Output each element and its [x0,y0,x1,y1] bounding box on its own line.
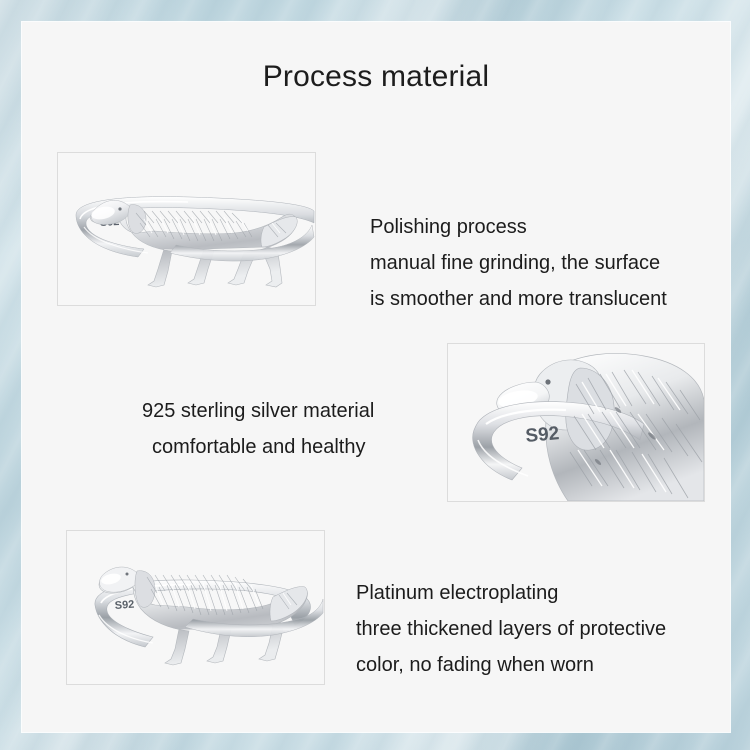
infographic-page: Process material [0,0,750,750]
page-title: Process material [22,60,730,94]
feature-line: Polishing process [370,209,667,245]
feature-text-material: 925 sterling silver material comfortable… [142,393,374,465]
dog-ring-closeup-photo: S92 [447,343,705,502]
feature-line: manual fine grinding, the surface [370,245,667,281]
content-card: Process material [22,22,730,732]
feature-line: three thickened layers of protective [356,611,666,647]
silver-stamp-label: S92 [114,599,134,612]
feature-line: is smoother and more translucent [370,281,667,317]
dog-ring-full-view-photo: S92 [66,530,325,685]
feature-text-plating: Platinum electroplating three thickened … [356,575,666,683]
feature-text-polishing: Polishing process manual fine grinding, … [370,209,667,317]
feature-line: color, no fading when worn [356,647,666,683]
silver-stamp-label: S92 [525,423,561,447]
feature-line: 925 sterling silver material [142,393,374,429]
dog-ring-side-view-photo: S92 [57,152,316,306]
feature-line: comfortable and healthy [142,429,374,465]
feature-line: Platinum electroplating [356,575,666,611]
